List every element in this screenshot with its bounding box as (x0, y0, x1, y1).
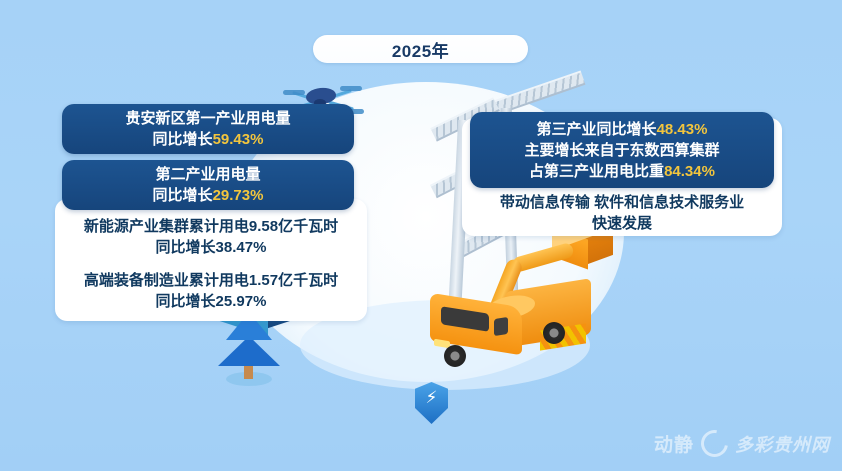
new-energy-cluster-block: 新能源产业集群累计用电9.58亿千瓦时 同比增长38.47% (84, 216, 338, 258)
new-energy-cluster-line1: 新能源产业集群累计用电9.58亿千瓦时 (84, 216, 338, 237)
high-end-equipment-line1: 高端装备制造业累计用电1.57亿千瓦时 (84, 270, 338, 291)
watermark-logo-icon (696, 425, 734, 463)
left-detail-text-group: 新能源产业集群累计用电9.58亿千瓦时 同比增长38.47% 高端装备制造业累计… (55, 212, 367, 316)
secondary-industry-growth-label: 同比增长 (153, 187, 213, 204)
secondary-industry-line2: 同比增长29.73% (153, 185, 264, 206)
secondary-industry-line1: 第二产业用电量 (155, 164, 260, 185)
page-title: 2025年 (392, 37, 449, 62)
secondary-industry-card: 第二产业用电量 同比增长29.73% (62, 160, 354, 210)
primary-industry-card: 贵安新区第一产业用电量 同比增长59.43% (62, 104, 354, 154)
high-end-equipment-line2: 同比增长25.97% (84, 291, 338, 312)
tertiary-industry-line1: 第三产业同比增长48.43% (537, 119, 708, 140)
primary-industry-line1: 贵安新区第一产业用电量 (125, 108, 290, 129)
info-services-line1: 带动信息传输 软件和信息技术服务业 (500, 192, 744, 213)
watermark-brand: 动静 (654, 430, 694, 457)
watermark-site: 多彩贵州网 (735, 431, 830, 457)
primary-industry-line2: 同比增长59.43% (153, 129, 264, 150)
tertiary-industry-card: 第三产业同比增长48.43% 主要增长来自于东数西算集群 占第三产业用电比重84… (470, 112, 774, 188)
primary-industry-growth-label: 同比增长 (153, 131, 213, 148)
tertiary-industry-line2: 主要增长来自于东数西算集群 (524, 140, 719, 161)
secondary-industry-growth-value: 29.73% (213, 187, 264, 204)
new-energy-cluster-line2: 同比增长38.47% (84, 237, 338, 258)
tertiary-share-label: 占第三产业用电比重 (529, 163, 664, 180)
infographic-canvas: 2025年 贵安新区第一产业用电量 同比增长59.43% 第二产业用电量 同比增… (0, 0, 842, 471)
primary-industry-growth-value: 59.43% (213, 131, 264, 148)
high-end-equipment-block: 高端装备制造业累计用电1.57亿千瓦时 同比增长25.97% (84, 270, 338, 312)
tertiary-industry-growth-value: 48.43% (657, 121, 708, 138)
tertiary-industry-line3: 占第三产业用电比重84.34% (529, 161, 715, 182)
year-title-pill: 2025年 (313, 35, 528, 63)
watermark: 动静 多彩贵州网 (654, 430, 830, 457)
tertiary-share-value: 84.34% (664, 163, 715, 180)
info-services-line2: 快速发展 (592, 213, 652, 234)
shield-lightning-icon (415, 382, 448, 424)
right-detail-text-group: 带动信息传输 软件和信息技术服务业 快速发展 (462, 190, 782, 236)
tertiary-industry-growth-label: 第三产业同比增长 (537, 121, 657, 138)
